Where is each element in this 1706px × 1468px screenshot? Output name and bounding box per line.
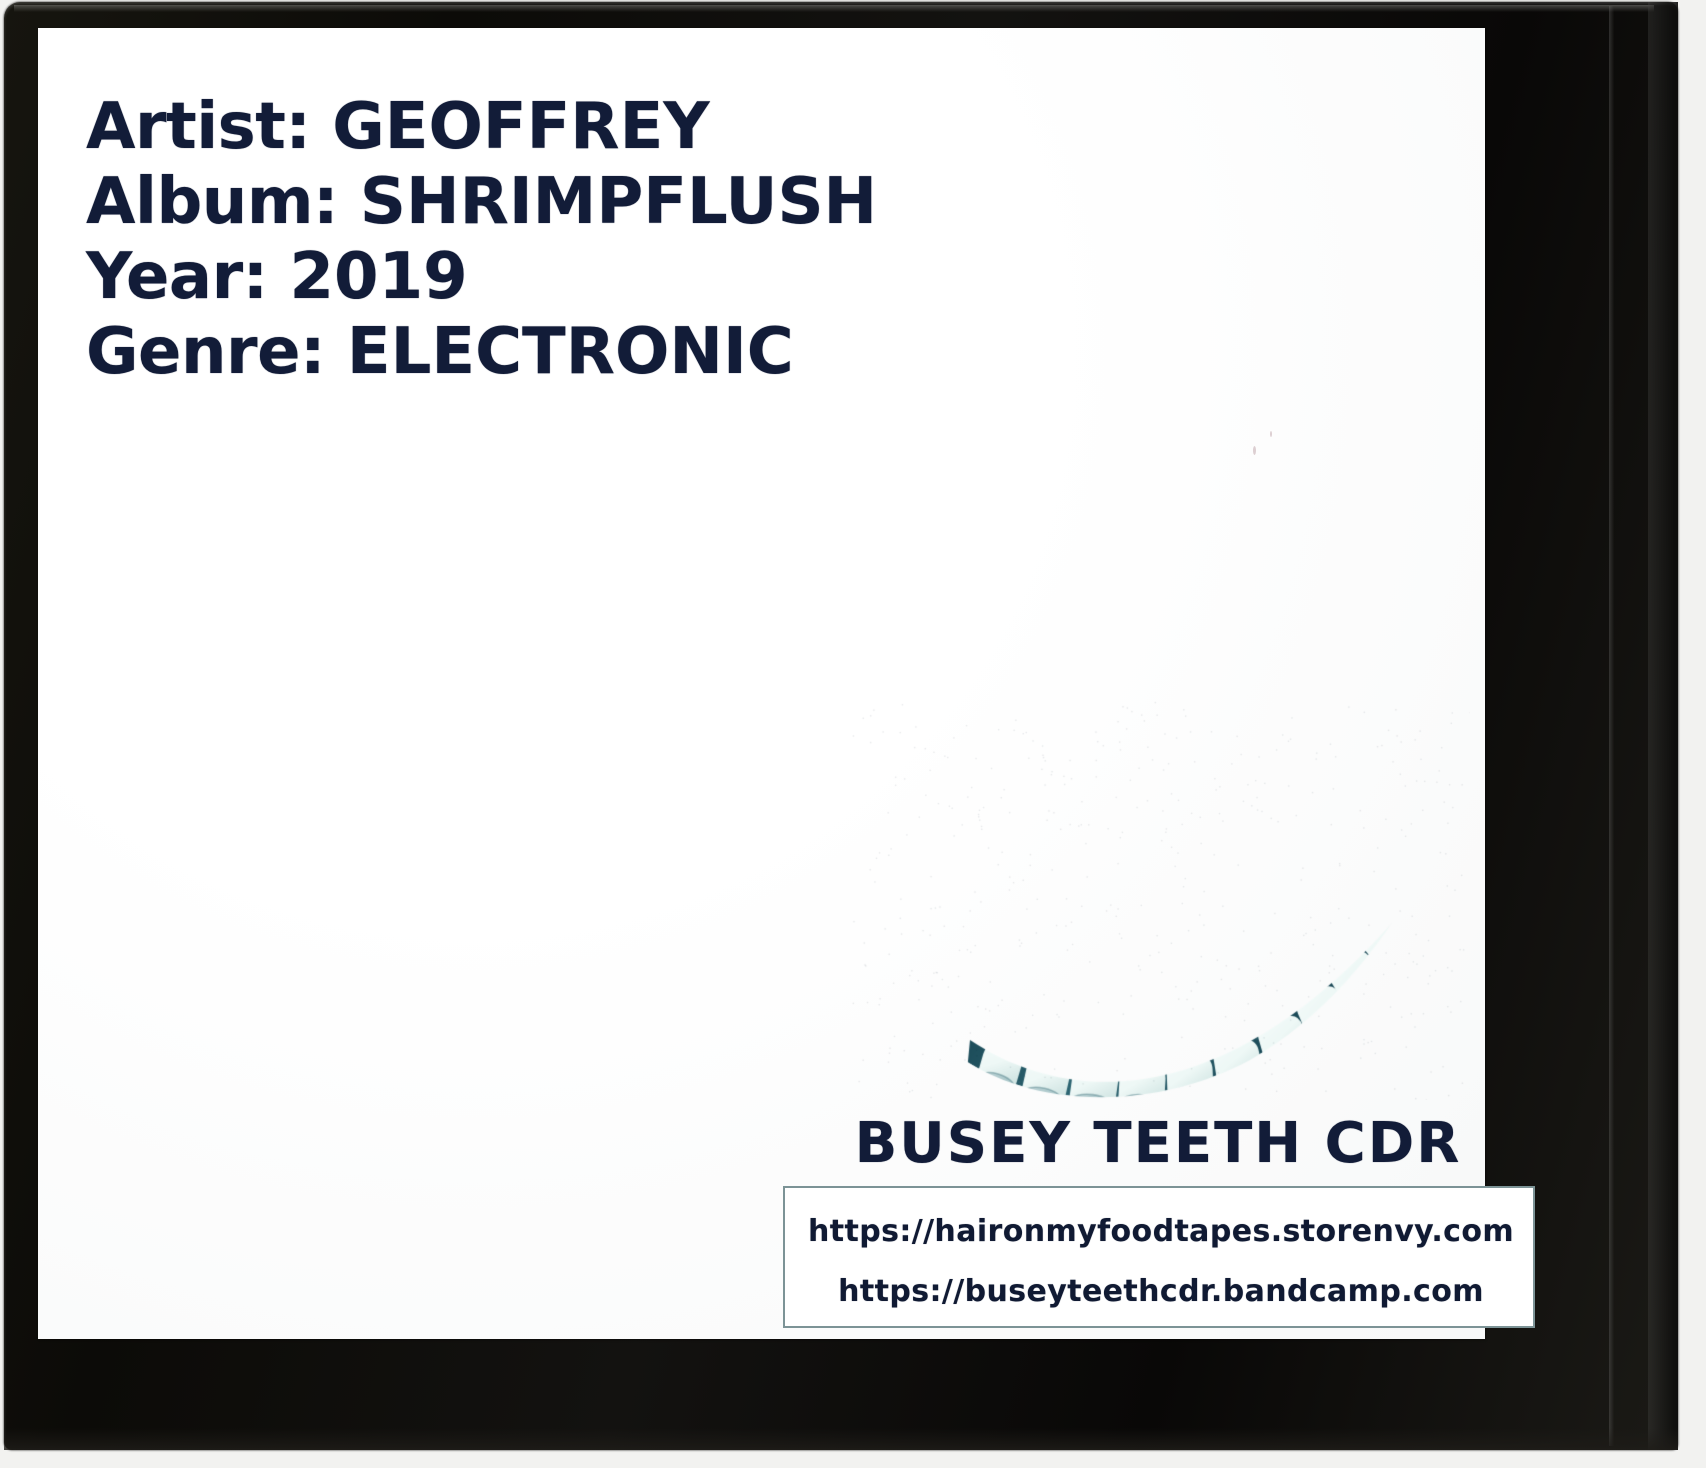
case-right-rail <box>1648 2 1678 1450</box>
link-storenvy[interactable]: https://haironmyfoodtapes.storenvy.com <box>785 1214 1537 1249</box>
scanned-page: Artist: GEOFFREY Album: SHRIMPFLUSH Year… <box>0 0 1706 1468</box>
links-box: https://haironmyfoodtapes.storenvy.com h… <box>783 1186 1535 1328</box>
metadata-line-album: Album: SHRIMPFLUSH <box>86 165 1226 240</box>
scan-speck <box>1253 446 1256 455</box>
metadata-block: Artist: GEOFFREY Album: SHRIMPFLUSH Year… <box>86 90 1226 390</box>
metadata-value-album: SHRIMPFLUSH <box>360 165 877 239</box>
metadata-line-genre: Genre: ELECTRONIC <box>86 315 1226 390</box>
case-bottom-shadow <box>4 1428 1678 1450</box>
metadata-label-genre: Genre: <box>86 315 325 389</box>
scan-speck <box>1270 431 1272 437</box>
metadata-value-genre: ELECTRONIC <box>347 315 794 389</box>
cd-insert-paper: Artist: GEOFFREY Album: SHRIMPFLUSH Year… <box>38 28 1485 1339</box>
case-hinge-highlight <box>1609 6 1614 1446</box>
label-wordmark: BUSEY TEETH CDR <box>828 1113 1488 1175</box>
metadata-line-artist: Artist: GEOFFREY <box>86 90 1226 165</box>
metadata-label-year: Year: <box>86 240 268 314</box>
link-bandcamp[interactable]: https://buseyteethcdr.bandcamp.com <box>785 1274 1537 1309</box>
teeth-photo <box>850 700 1470 1100</box>
metadata-line-year: Year: 2019 <box>86 240 1226 315</box>
metadata-value-artist: GEOFFREY <box>332 90 709 164</box>
teeth-photo-canvas <box>850 700 1470 1100</box>
metadata-value-year: 2019 <box>290 240 468 314</box>
case-top-sheen <box>14 5 1654 12</box>
metadata-label-album: Album: <box>86 165 338 239</box>
metadata-label-artist: Artist: <box>86 90 310 164</box>
